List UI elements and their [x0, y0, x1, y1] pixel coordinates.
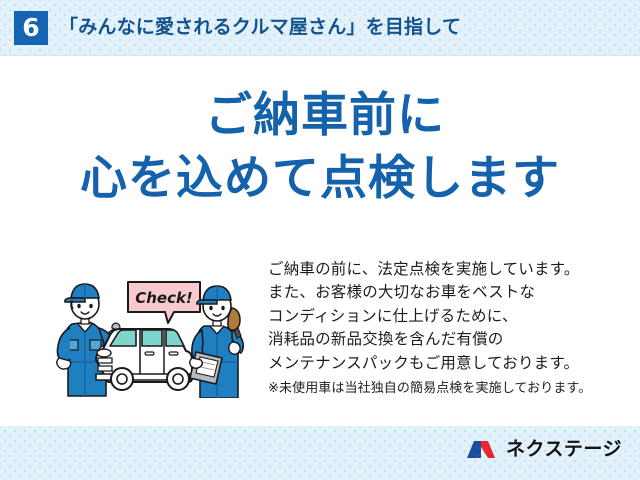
footer-band: ネクステージ: [0, 426, 640, 480]
body-line: ご納車の前に、法定点検を実施しています。: [268, 258, 628, 281]
headline-line-2: 心を込めて点検します: [0, 155, 640, 202]
brand-lockup: ネクステージ: [465, 438, 622, 462]
description-block: ご納車の前に、法定点検を実施しています。 また、お客様の大切なお車をベストな コ…: [268, 258, 628, 398]
nextage-n-logo-icon: [465, 438, 499, 462]
female-mechanic-figure: [190, 286, 244, 398]
brand-name: ネクステージ: [506, 438, 622, 462]
headline-line-1: ご納車前に: [0, 92, 640, 139]
check-speech-bubble: Check!: [128, 282, 200, 323]
body-note: ※未使用車は当社独自の簡易点検を実施しております。: [268, 378, 628, 398]
speech-bubble-text: Check!: [135, 289, 193, 307]
promotional-slide: 6 「みんなに愛されるクルマ屋さん」を目指して ご納車前に 心を込めて点検します: [0, 0, 640, 480]
white-van-illustration: [96, 329, 192, 390]
mechanics-illustration: Check!: [52, 262, 262, 398]
header-title: 「みんなに愛されるクルマ屋さん」を目指して: [59, 15, 461, 41]
body-line: メンテナンスパックもご用意しております。: [268, 352, 628, 375]
step-number-badge: 6: [14, 11, 48, 45]
header-band: 6 「みんなに愛されるクルマ屋さん」を目指して: [0, 0, 640, 56]
page-title: ご納車前に 心を込めて点検します: [0, 92, 640, 202]
body-line: また、お客様の大切なお車をベストな: [268, 281, 628, 304]
body-line: 消耗品の新品交換を含んだ有償の: [268, 328, 628, 351]
body-line: コンディションに仕上げるために、: [268, 305, 628, 328]
